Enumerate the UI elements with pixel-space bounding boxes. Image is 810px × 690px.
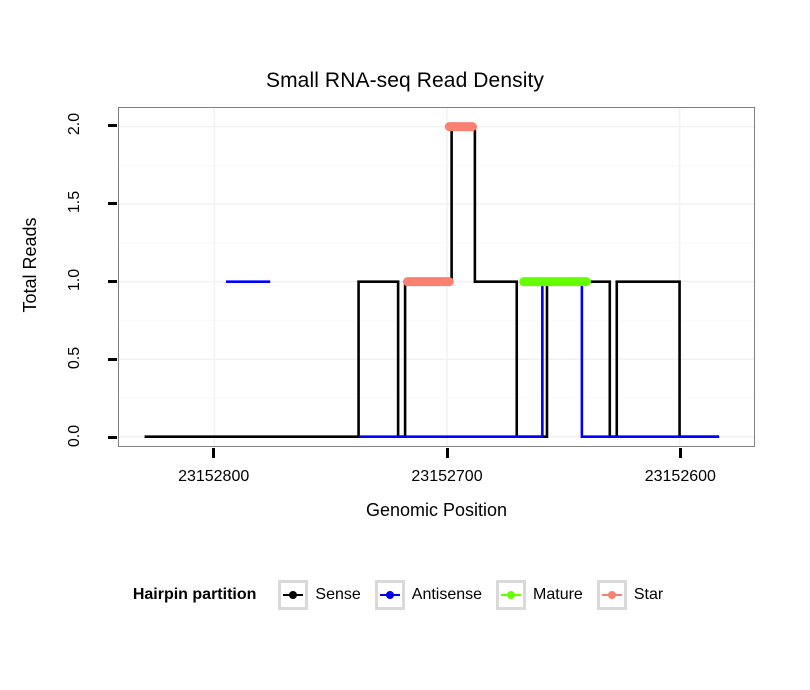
chart-root: Small RNA-seq Read Density Total Reads G… [0, 0, 810, 690]
legend-entry-antisense[interactable]: Antisense [375, 580, 482, 610]
legend-label: Star [634, 586, 663, 604]
page-title: Small RNA-seq Read Density [0, 68, 810, 94]
legend-entries: SenseAntisenseMatureStar [278, 580, 677, 610]
legend-entry-sense[interactable]: Sense [278, 580, 360, 610]
x-tick-label: 23152700 [387, 468, 507, 486]
legend-key-dot [386, 591, 394, 599]
y-tick-mark [108, 436, 117, 439]
y-tick-mark [108, 202, 117, 205]
y-axis-title: Total Reads [20, 165, 41, 365]
legend-key-dot [289, 591, 297, 599]
legend-key-dot [608, 591, 616, 599]
y-tick-label: 0.5 [66, 335, 84, 381]
legend-key-mature-icon [496, 580, 526, 610]
x-tick-mark [212, 448, 215, 458]
y-tick-mark [108, 358, 117, 361]
legend-title: Hairpin partition [133, 586, 257, 604]
y-tick-label: 0.0 [66, 413, 84, 459]
y-tick-label: 1.5 [66, 179, 84, 225]
legend-label: Antisense [412, 586, 482, 604]
y-tick-mark [108, 280, 117, 283]
y-tick-label: 1.0 [66, 257, 84, 303]
legend-key-star-icon [597, 580, 627, 610]
legend-key-antisense-icon [375, 580, 405, 610]
x-tick-label: 23152600 [620, 468, 740, 486]
y-tick-label: 2.0 [66, 101, 84, 147]
x-tick-label: 23152800 [154, 468, 274, 486]
legend: Hairpin partition SenseAntisenseMatureSt… [0, 580, 810, 610]
series-antisense [226, 282, 719, 437]
legend-label: Sense [315, 586, 360, 604]
x-tick-mark [679, 448, 682, 458]
x-tick-mark [446, 448, 449, 458]
y-tick-mark [108, 124, 117, 127]
x-axis-title: Genomic Position [118, 500, 755, 521]
data-series-layer [119, 108, 754, 446]
legend-label: Mature [533, 586, 583, 604]
plot-panel [118, 107, 755, 447]
legend-key-dot [507, 591, 515, 599]
legend-entry-mature[interactable]: Mature [496, 580, 583, 610]
legend-key-sense-icon [278, 580, 308, 610]
legend-entry-star[interactable]: Star [597, 580, 663, 610]
